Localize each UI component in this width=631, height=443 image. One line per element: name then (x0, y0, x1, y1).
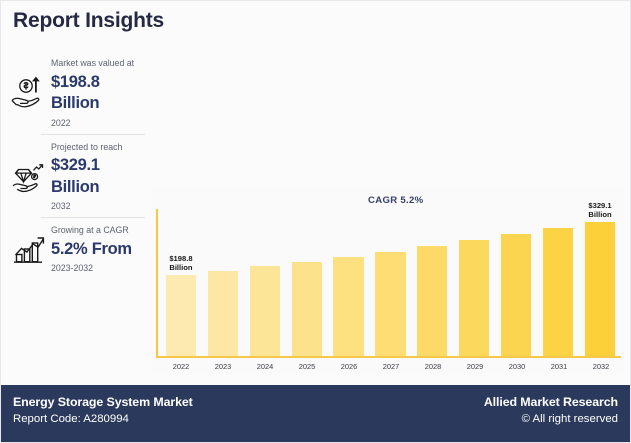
bar-cell (286, 209, 328, 356)
bar-cell (537, 209, 579, 356)
bar-2031[interactable] (543, 228, 573, 356)
x-tick-2031: 2031 (538, 359, 580, 374)
bar-2024[interactable] (250, 266, 280, 356)
footer-brand: Allied Market Research (484, 395, 618, 409)
bar-chart-arrow-icon (9, 233, 49, 265)
stat-caption: Projected to reach (51, 141, 149, 154)
hand-diamond-growth-icon (9, 159, 49, 193)
footer-report-name: Energy Storage System Market (13, 395, 193, 409)
stat-value: $329.1 Billion (51, 155, 149, 198)
bar-value-label: $329.1Billion (588, 202, 611, 220)
stats-sidebar: Market was valued at $198.8 Billion 2022 (9, 51, 149, 279)
bar-2032[interactable]: $329.1Billion (585, 222, 615, 357)
chart-plot-area: $198.8Billion$329.1Billion (156, 209, 621, 358)
stat-value: 5.2% From (51, 239, 149, 260)
bar-2029[interactable] (459, 240, 489, 356)
bar-cell (328, 209, 370, 356)
stat-caption: Market was valued at (51, 57, 149, 70)
footer-copyright: © All right reserved (484, 413, 618, 425)
x-tick-2030: 2030 (496, 359, 538, 374)
page-title: Report Insights (13, 9, 164, 33)
x-tick-2024: 2024 (244, 359, 286, 374)
bar-cell (453, 209, 495, 356)
bar-cell (202, 209, 244, 356)
x-tick-2029: 2029 (454, 359, 496, 374)
bar-cell: $329.1Billion (579, 209, 621, 356)
x-tick-2026: 2026 (328, 359, 370, 374)
y-axis-line (156, 209, 158, 358)
stat-block-projected-value: Projected to reach $329.1 Billion 2032 (9, 135, 149, 218)
x-tick-2023: 2023 (202, 359, 244, 374)
stat-sub: 2023-2032 (51, 263, 149, 273)
bar-cell (244, 209, 286, 356)
bar-cell: $198.8Billion (160, 209, 202, 356)
stat-sub: 2022 (51, 118, 149, 128)
footer-report-code: Report Code: A280994 (13, 413, 193, 425)
report-insights-card: Report Insights Market was valued at $19… (0, 0, 631, 443)
chart-cagr-annotation: CAGR 5.2% (368, 195, 423, 206)
bar-series: $198.8Billion$329.1Billion (160, 209, 621, 356)
footer-right: Allied Market Research © All right reser… (484, 395, 618, 425)
stat-block-cagr: Growing at a CAGR 5.2% From 2023-2032 (9, 218, 149, 279)
x-axis-tick-labels: 2022202320242025202620272028202920302031… (160, 359, 622, 374)
x-tick-2027: 2027 (370, 359, 412, 374)
stat-caption: Growing at a CAGR (51, 224, 149, 237)
stat-sub: 2032 (51, 201, 149, 211)
bar-cell (411, 209, 453, 356)
bar-2030[interactable] (501, 234, 531, 356)
bar-2023[interactable] (208, 271, 238, 357)
bar-2027[interactable] (375, 252, 405, 357)
x-tick-2028: 2028 (412, 359, 454, 374)
hand-coin-growth-icon (9, 75, 49, 109)
bar-2028[interactable] (417, 246, 447, 356)
stat-value: $198.8 Billion (51, 72, 149, 115)
stat-block-market-value: Market was valued at $198.8 Billion 2022 (9, 51, 149, 134)
bar-2022[interactable]: $198.8Billion (166, 275, 196, 356)
bar-value-label: $198.8Billion (169, 255, 192, 273)
bar-2026[interactable] (333, 257, 363, 357)
market-forecast-bar-chart: CAGR 5.2% $198.8Billion$329.1Billion 202… (153, 187, 625, 374)
bar-cell (495, 209, 537, 356)
bar-2025[interactable] (292, 262, 322, 357)
footer-bar: Energy Storage System Market Report Code… (1, 385, 630, 442)
x-tick-2022: 2022 (160, 359, 202, 374)
x-tick-2025: 2025 (286, 359, 328, 374)
footer-left: Energy Storage System Market Report Code… (13, 395, 193, 425)
x-tick-2032: 2032 (580, 359, 622, 374)
bar-cell (370, 209, 412, 356)
x-axis-line (156, 356, 621, 358)
